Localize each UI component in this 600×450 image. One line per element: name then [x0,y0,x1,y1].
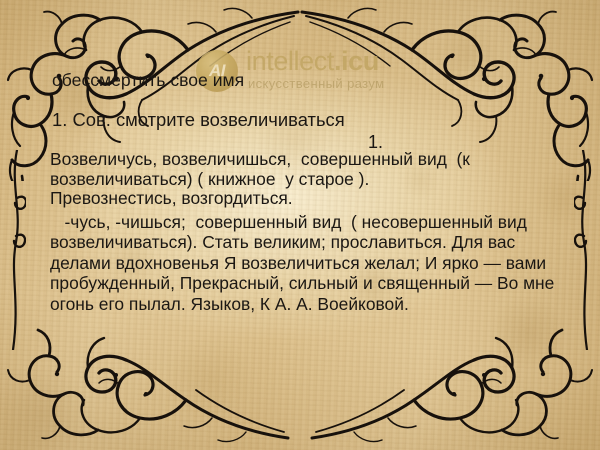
sense-reference: 1. Сов. смотрите возвеличиваться [52,110,345,130]
headword-phrase: обессмертить свое имя [52,70,244,90]
usage-block: -чусь, -чишься; совершенный вид ( несове… [50,212,558,314]
definition-block: Возвеличусь, возвеличишься, совершенный … [50,150,550,209]
dictionary-page: AI intellect.icu искусственный разум обе… [0,0,600,450]
dictionary-article: обессмертить свое имя 1. Сов. смотрите в… [0,0,600,450]
